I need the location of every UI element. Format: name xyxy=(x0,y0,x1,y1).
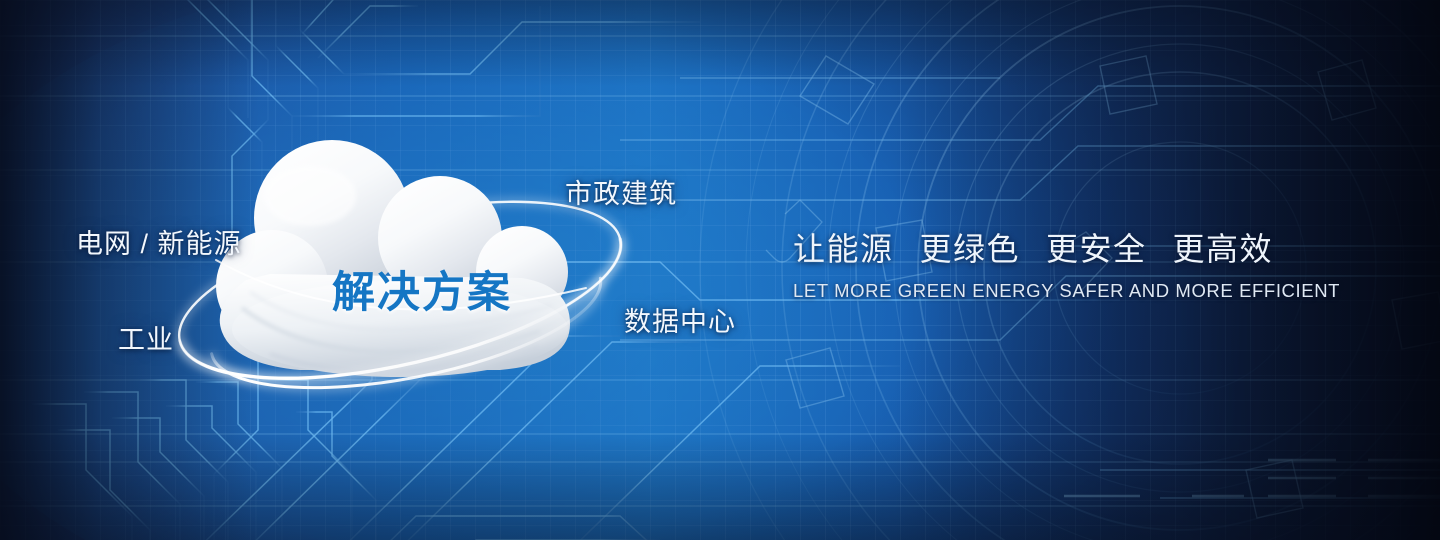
slogan-cn-part-2: 更绿色 xyxy=(920,231,1021,267)
slogan-cn-part-3: 更安全 xyxy=(1046,231,1147,267)
label-datacenter: 数据中心 xyxy=(624,300,736,339)
dash-ladder xyxy=(1064,460,1440,496)
slogan-block: 让能源更绿色更安全更高效 LET MORE GREEN ENERGY SAFER… xyxy=(793,224,1353,302)
solution-banner: 解决方案 电网 / 新能源 工业 市政建筑 数据中心 让能源更绿色更安全更高效 … xyxy=(0,0,1440,540)
slogan-chinese: 让能源更绿色更安全更高效 xyxy=(793,224,1353,270)
label-industry: 工业 xyxy=(118,318,174,357)
slogan-cn-part-1: 让能源 xyxy=(793,231,894,267)
label-grid-energy: 电网 / 新能源 xyxy=(76,222,242,261)
slogan-english: LET MORE GREEN ENERGY SAFER AND MORE EFF… xyxy=(793,280,1353,302)
slogan-cn-part-4: 更高效 xyxy=(1173,231,1274,267)
label-civic-building: 市政建筑 xyxy=(565,172,677,211)
cloud-title: 解决方案 xyxy=(332,258,512,320)
